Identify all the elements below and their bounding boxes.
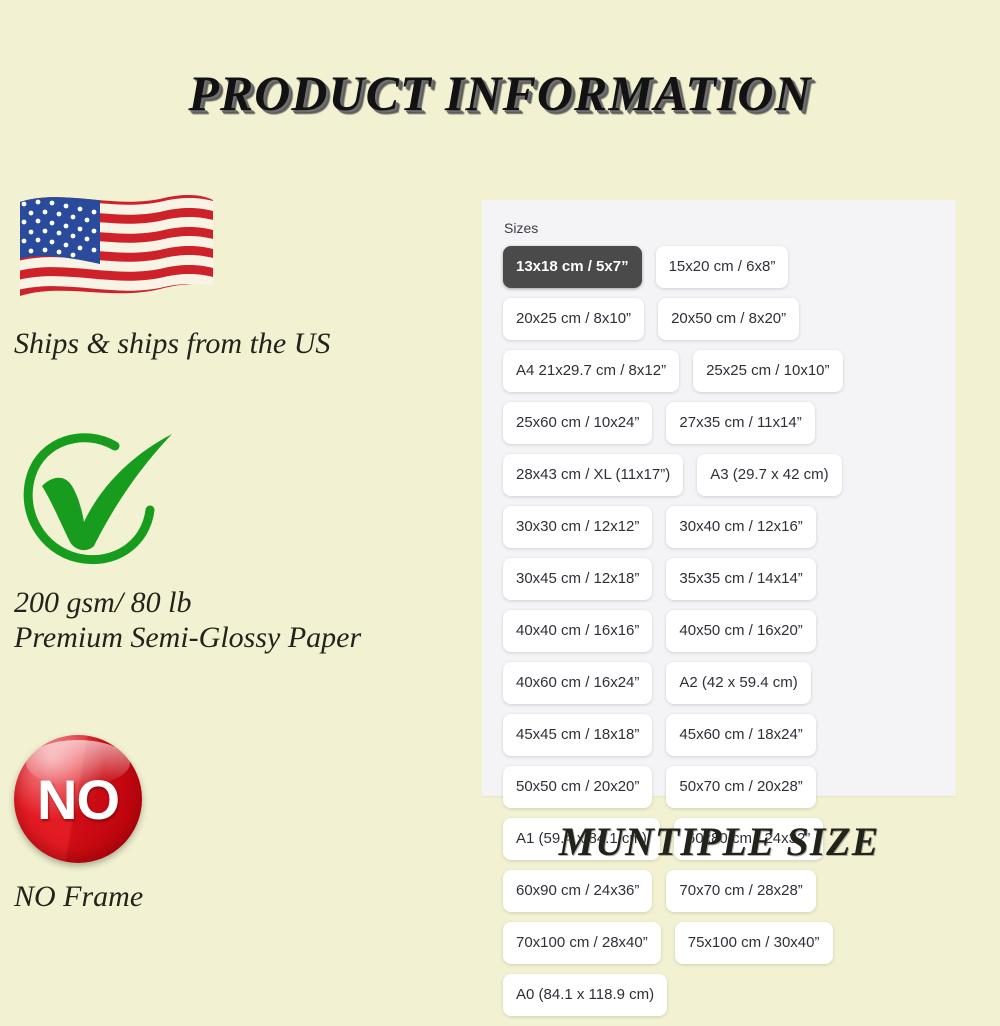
size-chip[interactable]: A4 21x29.7 cm / 8x12” bbox=[503, 350, 679, 392]
no-frame-caption: NO Frame bbox=[14, 879, 470, 914]
sizes-label: Sizes bbox=[504, 220, 956, 236]
size-chip[interactable]: 25x60 cm / 10x24” bbox=[503, 402, 652, 444]
feature-ships-from-us: Ships & ships from the US bbox=[0, 186, 470, 361]
size-chip[interactable]: 20x25 cm / 8x10” bbox=[503, 298, 644, 340]
size-chip[interactable]: 30x40 cm / 12x16” bbox=[666, 506, 815, 548]
size-chip[interactable]: 25x25 cm / 10x10” bbox=[693, 350, 842, 392]
size-chip[interactable]: 27x35 cm / 11x14” bbox=[666, 402, 814, 444]
size-chip[interactable]: A2 (42 x 59.4 cm) bbox=[666, 662, 810, 704]
size-chip[interactable]: 40x50 cm / 16x20” bbox=[666, 610, 815, 652]
size-chip[interactable]: 45x60 cm / 18x24” bbox=[666, 714, 815, 756]
size-chip[interactable]: 40x60 cm / 16x24” bbox=[503, 662, 652, 704]
size-chip[interactable]: 20x50 cm / 8x20” bbox=[658, 298, 799, 340]
paper-weight-label: 200 gsm/ 80 lb bbox=[14, 585, 470, 620]
feature-no-frame: NO NO Frame bbox=[0, 735, 470, 914]
sizes-panel: Sizes 13x18 cm / 5x7”15x20 cm / 6x8”20x2… bbox=[482, 200, 956, 796]
size-chip[interactable]: A3 (29.7 x 42 cm) bbox=[697, 454, 841, 496]
size-chip[interactable]: 50x70 cm / 20x28” bbox=[666, 766, 815, 808]
no-badge-icon: NO bbox=[14, 735, 142, 863]
size-chip[interactable]: 60x90 cm / 24x36” bbox=[503, 870, 652, 912]
size-chip[interactable]: 28x43 cm / XL (11x17”) bbox=[503, 454, 683, 496]
feature-paper-quality: 200 gsm/ 80 lb Premium Semi-Glossy Paper bbox=[0, 418, 470, 656]
size-chip[interactable]: 70x70 cm / 28x28” bbox=[666, 870, 815, 912]
multiple-size-heading: MUNTIPLE SIZE bbox=[482, 818, 956, 865]
us-flag-icon bbox=[14, 186, 219, 314]
page-title: PRODUCT INFORMATION bbox=[0, 64, 1000, 122]
size-chip[interactable]: 45x45 cm / 18x18” bbox=[503, 714, 652, 756]
size-chip[interactable]: 15x20 cm / 6x8” bbox=[656, 246, 789, 288]
size-chip[interactable]: 75x100 cm / 30x40” bbox=[675, 922, 833, 964]
size-chip[interactable]: 13x18 cm / 5x7” bbox=[503, 246, 642, 288]
size-chip[interactable]: 30x30 cm / 12x12” bbox=[503, 506, 652, 548]
size-chip[interactable]: A0 (84.1 x 118.9 cm) bbox=[503, 974, 667, 1016]
size-chip[interactable]: 35x35 cm / 14x14” bbox=[666, 558, 815, 600]
size-chip[interactable]: 40x40 cm / 16x16” bbox=[503, 610, 652, 652]
size-chip[interactable]: 30x45 cm / 12x18” bbox=[503, 558, 652, 600]
ships-from-us-caption: Ships & ships from the US bbox=[14, 326, 470, 361]
paper-type-label: Premium Semi-Glossy Paper bbox=[14, 620, 470, 655]
size-chip[interactable]: 70x100 cm / 28x40” bbox=[503, 922, 661, 964]
no-badge-text: NO bbox=[14, 735, 142, 863]
green-checkmark-icon bbox=[14, 418, 184, 573]
size-chip[interactable]: 50x50 cm / 20x20” bbox=[503, 766, 652, 808]
sizes-grid: 13x18 cm / 5x7”15x20 cm / 6x8”20x25 cm /… bbox=[496, 246, 946, 1026]
